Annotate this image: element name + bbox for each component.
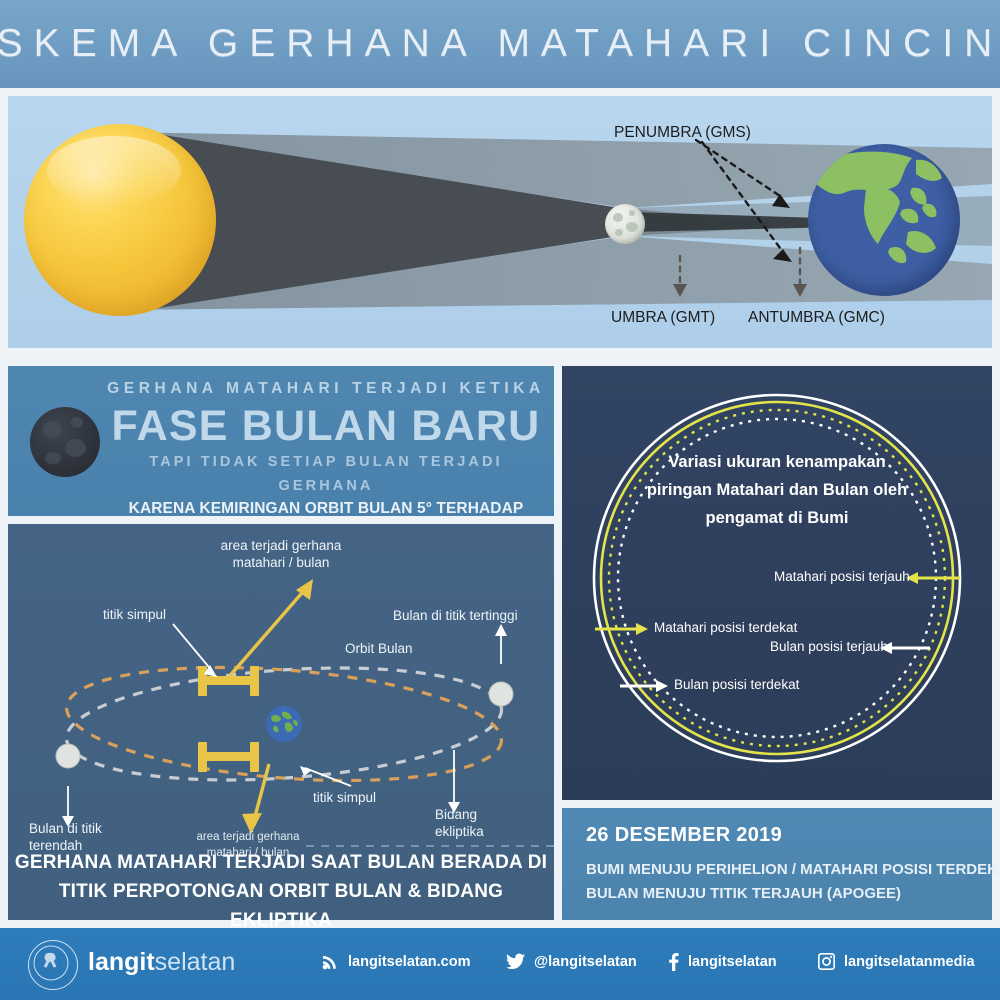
label-umbra: UMBRA (GMT): [611, 309, 715, 327]
new-moon-icon: [30, 407, 100, 477]
infographic-page: SKEMA GERHANA MATAHARI CINCIN: [0, 0, 1000, 1000]
label-penumbra: PENUMBRA (GMS): [614, 124, 751, 142]
footer-link-label: langitselatanmedia: [844, 954, 975, 970]
brand-bold: langit: [88, 948, 155, 976]
label-moon-orbit: Orbit Bulan: [345, 640, 413, 657]
event-date-panel: 26 DESEMBER 2019 BUMI MENUJU PERIHELION …: [562, 808, 992, 920]
new-moon-line-3: TAPI TIDAK SETIAP BULAN TERJADI GERHANA: [104, 450, 548, 498]
new-moon-phase-panel: GERHANA MATAHARI TERJADI KETIKA FASE BUL…: [8, 366, 554, 516]
langitselatan-seal-logo[interactable]: [28, 940, 78, 990]
new-moon-line-1: GERHANA MATAHARI TERJADI KETIKA: [104, 376, 548, 402]
label-node-bottom: titik simpul: [313, 789, 376, 806]
event-notes: BUMI MENUJU PERIHELION / MATAHARI POSISI…: [586, 858, 1000, 906]
label-sun-farthest: Matahari posisi terjauh: [774, 569, 910, 584]
rss-icon: [322, 953, 339, 970]
label-node-top: titik simpul: [103, 606, 166, 623]
earth-in-orbit-icon: [266, 706, 302, 742]
header-bar: SKEMA GERHANA MATAHARI CINCIN: [0, 0, 1000, 88]
label-ecliptic-plane: Bidang ekliptika: [435, 806, 484, 840]
new-moon-line-2: FASE BULAN BARU: [104, 402, 548, 450]
page-title: SKEMA GERHANA MATAHARI CINCIN: [0, 0, 1000, 88]
label-antumbra: ANTUMBRA (GMC): [748, 309, 885, 327]
label-moon-farthest: Bulan posisi terjauh: [770, 639, 888, 654]
orbit-caption: GERHANA MATAHARI TERJADI SAAT BULAN BERA…: [8, 848, 554, 935]
instagram-icon: [818, 953, 835, 970]
footer-bar: langitselatan langitselatan.com @langits…: [0, 928, 1000, 1000]
footer-link-facebook[interactable]: langitselatan: [668, 953, 777, 971]
footer-link-label: langitselatan: [688, 954, 777, 970]
facebook-icon: [668, 953, 679, 971]
brand-wordmark[interactable]: langitselatan: [88, 948, 235, 977]
new-moon-text-block: GERHANA MATAHARI TERJADI KETIKA FASE BUL…: [104, 376, 548, 542]
footer-link-label: langitselatan.com: [348, 954, 470, 970]
footer-link-website[interactable]: langitselatan.com: [322, 953, 470, 970]
twitter-icon: [506, 953, 525, 970]
footer-link-instagram[interactable]: langitselatanmedia: [818, 953, 975, 970]
brand-light: selatan: [155, 948, 236, 976]
footer-link-twitter[interactable]: @langitselatan: [506, 953, 637, 970]
footer-link-label: @langitselatan: [534, 954, 637, 970]
apparent-size-variation-panel: Variasi ukuran kenampakan piringan Matah…: [562, 366, 992, 800]
event-date: 26 DESEMBER 2019: [586, 824, 782, 847]
eclipse-geometry-diagram: PENUMBRA (GMS) UMBRA (GMT) ANTUMBRA (GMC…: [8, 96, 992, 348]
label-eclipse-area-top: area terjadi gerhana matahari / bulan: [205, 537, 357, 571]
label-moon-highest: Bulan di titik tertinggi: [393, 607, 518, 624]
label-sun-nearest: Matahari posisi terdekat: [654, 620, 797, 635]
label-moon-nearest: Bulan posisi terdekat: [674, 677, 799, 692]
variation-title: Variasi ukuran kenampakan piringan Matah…: [602, 448, 952, 532]
